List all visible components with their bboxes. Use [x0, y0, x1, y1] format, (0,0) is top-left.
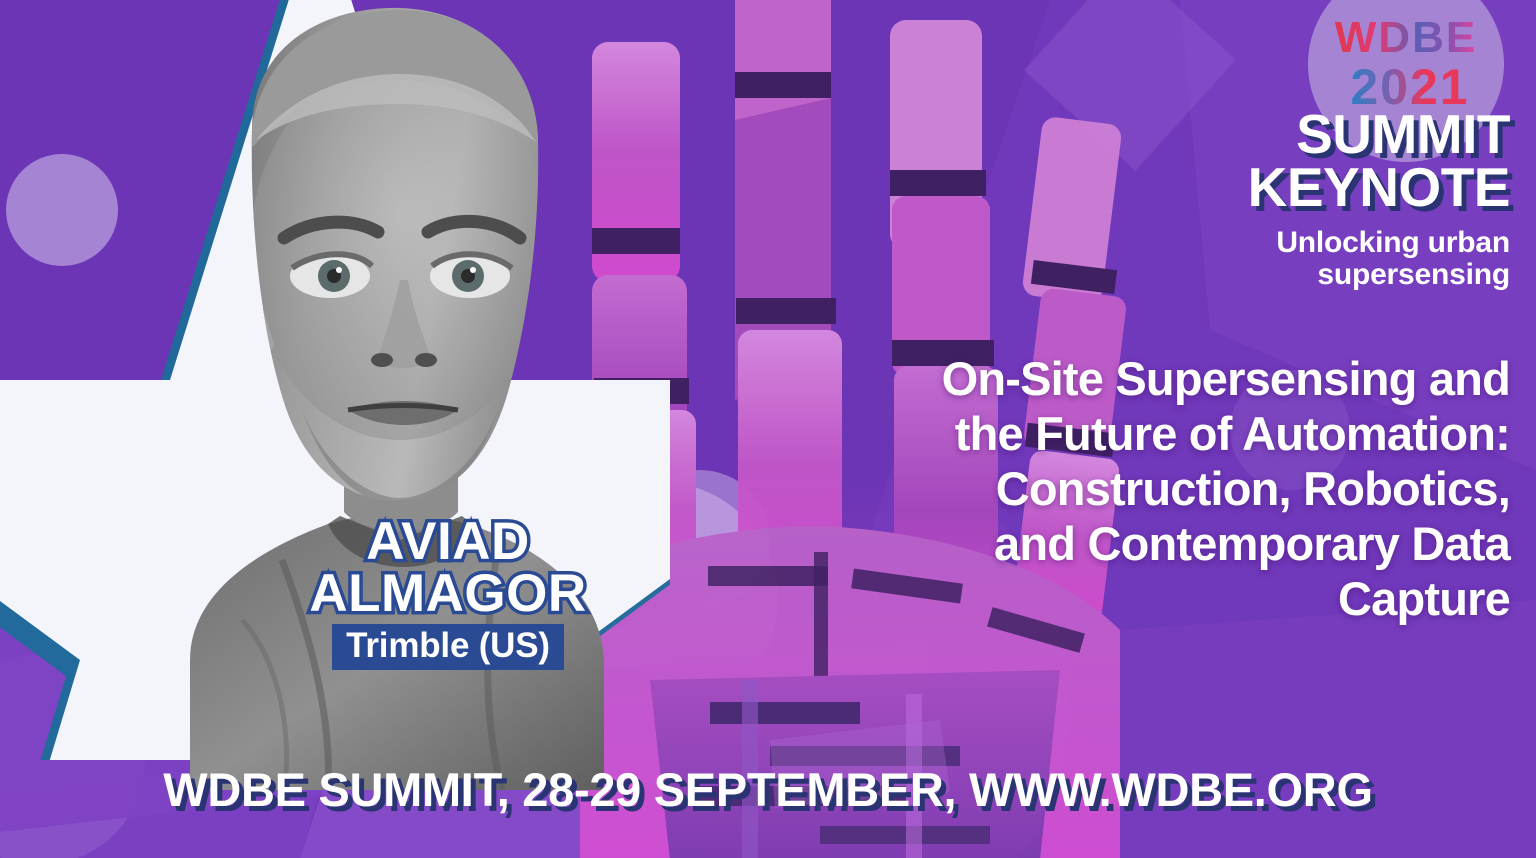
keynote-subtitle-line-2: supersensing: [1080, 259, 1510, 291]
talk-title-line: On-Site Supersensing and: [660, 352, 1510, 407]
talk-title: On-Site Supersensing and the Future of A…: [660, 352, 1510, 627]
logo-wordmark: WDBE: [1335, 13, 1477, 62]
talk-title-line: Construction, Robotics,: [660, 462, 1510, 517]
speaker-last-name: ALMAGOR: [238, 568, 658, 620]
talk-title-line: Capture: [660, 572, 1510, 627]
keynote-line-2: KEYNOTE: [1080, 161, 1510, 214]
talk-title-line: the Future of Automation:: [660, 407, 1510, 462]
talk-title-line: and Contemporary Data: [660, 517, 1510, 572]
speaker-organization: Trimble (US): [332, 624, 564, 670]
speaker-portrait-svg: [132, 0, 652, 790]
speaker-first-name: AVIAD: [238, 516, 658, 568]
speaker-photo: [132, 0, 652, 790]
keynote-subtitle-line-1: Unlocking urban: [1080, 227, 1510, 259]
keynote-line-1: SUMMIT: [1080, 108, 1510, 161]
footer-banner: WDBE SUMMIT, 28-29 SEPTEMBER, WWW.WDBE.O…: [0, 762, 1536, 817]
event-promo-poster: WDBE 2021 SUMMIT KEYNOTE Unlocking urban…: [0, 0, 1536, 858]
speaker-identity: AVIAD ALMAGOR Trimble (US): [238, 516, 658, 670]
speaker-org-wrap: Trimble (US): [238, 624, 658, 670]
keynote-heading: SUMMIT KEYNOTE Unlocking urban supersens…: [1080, 108, 1510, 291]
